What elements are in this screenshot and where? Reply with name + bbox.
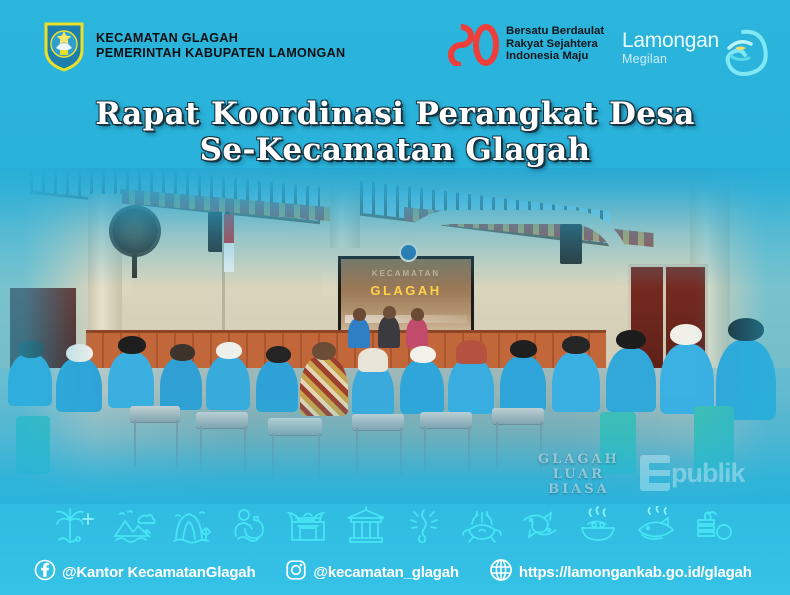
slogan-line-3: BIASA bbox=[538, 482, 620, 497]
instagram-icon bbox=[285, 559, 307, 586]
publisher-watermark: publik bbox=[640, 455, 745, 491]
anniversary-logo: Bersatu Berdaulat Rakyat Sejahtera Indon… bbox=[448, 24, 604, 64]
poster-footer: @Kantor KecamatanGlagah @kecamatan_glaga… bbox=[0, 549, 790, 595]
poster-canvas: KECAMATAN GLAGAH bbox=[0, 0, 790, 595]
title-line-2: Se-Kecamatan Glagah bbox=[0, 132, 790, 168]
traditional-gate-icon bbox=[286, 506, 330, 546]
soup-bowl-icon bbox=[576, 506, 620, 546]
crab-icon bbox=[460, 506, 504, 546]
poster-header: KECAMATAN GLAGAH PEMERINTAH KABUPATEN LA… bbox=[0, 0, 790, 92]
publisher-name: publik bbox=[671, 458, 745, 489]
slogan-watermark: GLAGAH LUAR BIASA bbox=[538, 452, 620, 497]
publisher-mark-icon bbox=[640, 455, 670, 491]
facebook-handle: @Kantor KecamatanGlagah bbox=[62, 564, 255, 581]
anniversary-number-icon bbox=[448, 24, 500, 64]
org-line-1: KECAMATAN GLAGAH bbox=[96, 31, 345, 46]
cave-arch-icon bbox=[170, 506, 214, 546]
slogan-line-2: LUAR bbox=[538, 467, 620, 482]
tourism-icon-strip bbox=[0, 503, 790, 549]
event-photo: KECAMATAN GLAGAH bbox=[0, 168, 790, 504]
globe-icon bbox=[489, 558, 513, 587]
facebook-icon bbox=[34, 559, 56, 586]
fish-icon bbox=[518, 506, 562, 546]
mountain-landscape-icon bbox=[112, 506, 156, 546]
city-brand-tagline: Megilan bbox=[622, 53, 719, 66]
website-contact[interactable]: https://lamongankab.go.id/glagah bbox=[489, 558, 752, 587]
org-line-2: PEMERINTAH KABUPATEN LAMONGAN bbox=[96, 46, 345, 61]
city-brand-logo: Lamongan Megilan bbox=[622, 30, 769, 81]
kabupaten-lamongan-emblem-icon bbox=[42, 20, 86, 72]
instagram-contact[interactable]: @kecamatan_glagah bbox=[285, 559, 458, 586]
facebook-contact[interactable]: @Kantor KecamatanGlagah bbox=[34, 559, 255, 586]
government-branding: KECAMATAN GLAGAH PEMERINTAH KABUPATEN LA… bbox=[42, 20, 345, 72]
food-stack-icon bbox=[692, 506, 736, 546]
grilled-fish-icon bbox=[634, 506, 678, 546]
city-brand-name: Lamongan bbox=[622, 30, 719, 51]
anniversary-tagline-3: Indonesia Maju bbox=[506, 50, 604, 63]
instagram-handle: @kecamatan_glagah bbox=[313, 564, 458, 581]
website-url: https://lamongankab.go.id/glagah bbox=[519, 564, 752, 581]
temple-icon bbox=[344, 506, 388, 546]
anniversary-tagline-2: Rakyat Sejahtera bbox=[506, 38, 604, 51]
keris-dagger-icon bbox=[402, 506, 446, 546]
anniversary-tagline-1: Bersatu Berdaulat bbox=[506, 25, 604, 38]
lamongan-fish-mark-icon bbox=[713, 26, 769, 81]
poster-title: Rapat Koordinasi Perangkat Desa Se-Kecam… bbox=[0, 96, 790, 168]
slogan-line-1: GLAGAH bbox=[538, 452, 620, 467]
pottery-craft-icon bbox=[228, 506, 272, 546]
palm-tree-icon bbox=[54, 506, 98, 546]
title-line-1: Rapat Koordinasi Perangkat Desa bbox=[0, 96, 790, 132]
